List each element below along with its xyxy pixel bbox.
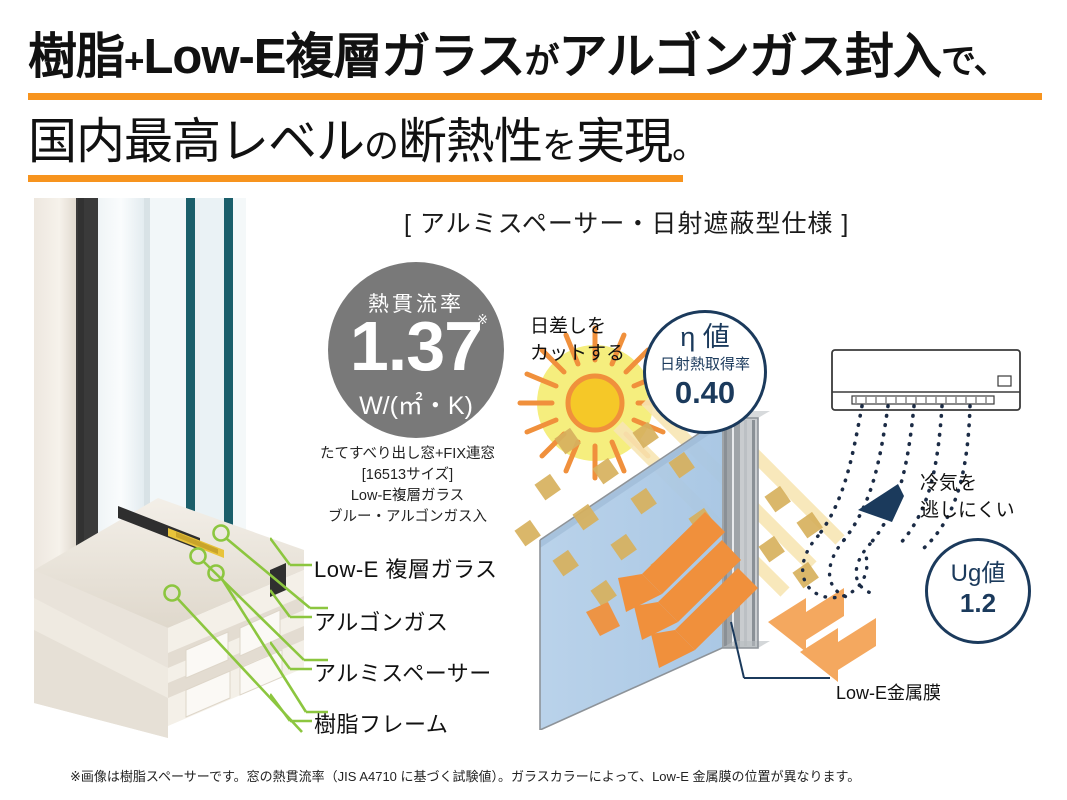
transmitted-heat-arrows — [768, 588, 876, 682]
u-value-unit: W/(㎡・K) — [328, 386, 504, 422]
headline-text-jushi: 樹脂 — [28, 30, 124, 84]
cold-air-arrow — [858, 484, 904, 522]
eta-title: η 値 — [646, 322, 764, 352]
callout-label-aluminum-spacer: アルミスペーサー — [314, 656, 492, 688]
headline-text-ga: が — [524, 42, 558, 81]
spec-line-4: ブルー・アルゴンガス入 — [300, 507, 515, 528]
ug-value-badge: Ug値 1.2 — [925, 538, 1031, 644]
headline-line-2: 国内最高レベルの断熱性を実現。 — [28, 111, 1048, 178]
spec-line-3: Low-E複層ガラス — [300, 486, 515, 507]
callout-label-resin-frame: 樹脂フレーム — [314, 707, 448, 739]
headline-text-wo: を — [542, 127, 576, 166]
ug-title: Ug値 — [928, 560, 1028, 588]
headline-text-lowe: Low-E複層ガラス — [143, 30, 524, 84]
cold-air-label-line2: 逃しにくい — [920, 497, 1015, 524]
spec-subtitle: [ アルミスペーサー・日射遮蔽型仕様 ] — [404, 204, 849, 240]
u-value-asterisk: ※ — [477, 312, 488, 328]
headline-block: 樹脂+Low-E複層ガラスがアルゴンガス封入で、 国内最高レベルの断熱性を実現。 — [28, 26, 1048, 178]
headline-text-realize: 実現 — [576, 115, 672, 169]
eta-value: 0.40 — [646, 375, 764, 411]
air-conditioner-icon — [832, 350, 1020, 410]
headline-text-insulation: 断熱性 — [398, 115, 542, 169]
spec-detail-block: たてすべり出し窓+FIX連窓 [16513サイズ] Low-E複層ガラス ブルー… — [300, 444, 515, 528]
cold-air-swirl — [803, 536, 874, 598]
cold-air-label-line1: 冷気を — [920, 470, 1015, 497]
callout-label-argon-gas: アルゴンガス — [314, 605, 448, 637]
infographic-page: 樹脂+Low-E複層ガラスがアルゴンガス封入で、 国内最高レベルの断熱性を実現。… — [0, 0, 1067, 800]
headline-text-argon: アルゴンガス — [558, 30, 845, 84]
u-value-badge: 熱貫流率 1.37 ※ W/(㎡・K) — [328, 262, 504, 438]
headline-text-domestic: 国内最高レベル — [28, 115, 364, 169]
sunlight-cut-label: 日差しを カットする — [530, 313, 625, 367]
headline-text-period: 。 — [672, 127, 706, 166]
lowe-film-label: Low-E金属膜 — [836, 679, 941, 705]
cold-air-label: 冷気を 逃しにくい — [920, 470, 1015, 524]
callout-label-lowe-glass: Low-E 複層ガラス — [314, 552, 498, 584]
ug-value: 1.2 — [928, 588, 1028, 618]
headline-underline-2 — [28, 175, 683, 182]
headline-line-1: 樹脂+Low-E複層ガラスがアルゴンガス封入で、 — [28, 26, 1048, 93]
headline-text-plus: + — [124, 42, 143, 81]
eta-subtitle: 日射熱取得率 — [646, 355, 764, 375]
headline-text-no: の — [364, 127, 398, 166]
sunlight-cut-label-line1: 日差しを — [530, 313, 625, 340]
sunlight-cut-label-line2: カットする — [530, 340, 625, 367]
eta-value-badge: η 値 日射熱取得率 0.40 — [643, 310, 767, 434]
headline-underline-1 — [28, 93, 1042, 100]
spec-line-2: [16513サイズ] — [300, 465, 515, 486]
spec-line-1: たてすべり出し窓+FIX連窓 — [300, 444, 515, 465]
headline-text-seal: 封入 — [845, 30, 941, 84]
headline-text-de: で、 — [941, 42, 1008, 81]
footnote-text: ※画像は樹脂スペーサーです。窓の熱貫流率（JIS A4710 に基づく試験値）。… — [70, 766, 860, 785]
